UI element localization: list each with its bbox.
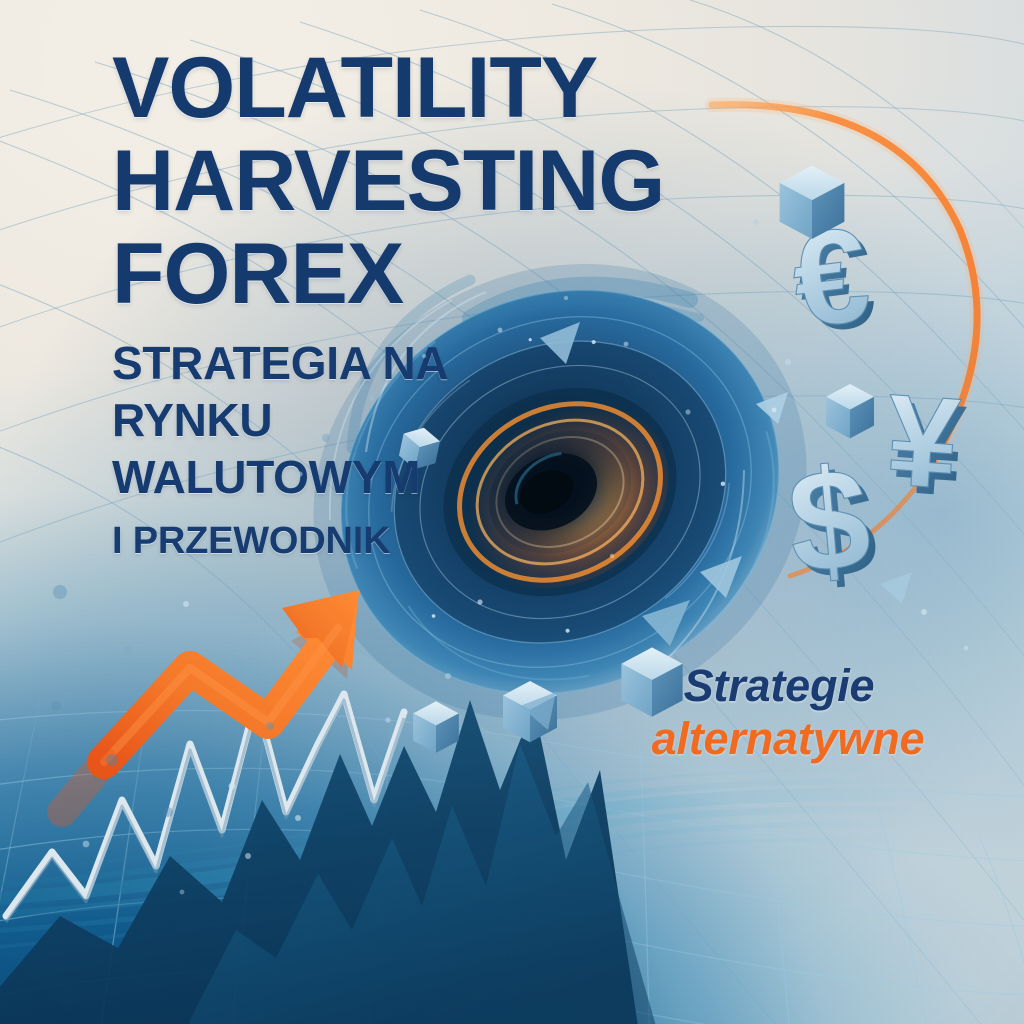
- svg-text:€: €: [785, 199, 877, 356]
- tagline-primary: Strategie: [614, 660, 944, 712]
- dollar-symbol: $ $: [782, 436, 882, 611]
- yen-symbol: ¥ ¥: [881, 366, 970, 524]
- svg-text:$: $: [789, 443, 883, 610]
- svg-text:¥: ¥: [887, 373, 969, 524]
- floating-cube-3: [413, 701, 459, 753]
- title-line-2: HARVESTING: [112, 135, 752, 228]
- white-volatility-line-shadow: [6, 700, 404, 922]
- page-title: VOLATILITY HARVESTING FOREX: [112, 42, 752, 321]
- page-subtitle: STRATEGIA NA RYNKU WALUTOWYM: [112, 335, 752, 506]
- tagline-secondary: alternatywne: [632, 712, 944, 766]
- white-volatility-line: [6, 694, 404, 916]
- guide-label: I PRZEWODNIK: [112, 518, 752, 564]
- subtitle-line-2: RYNKU: [112, 392, 752, 449]
- title-line-1: VOLATILITY: [112, 42, 752, 135]
- poster-canvas: € € ¥ ¥ $ $: [0, 0, 1024, 1024]
- headline-block: VOLATILITY HARVESTING FOREX STRATEGIA NA…: [112, 42, 752, 564]
- floating-cube-2: [826, 384, 874, 438]
- subtitle-line-3: WALUTOWYM: [112, 449, 752, 506]
- title-line-3: FOREX: [112, 228, 752, 321]
- svg-text:€: €: [790, 205, 882, 362]
- subtitle-line-1: STRATEGIA NA: [112, 335, 752, 392]
- euro-symbol: € €: [785, 199, 883, 363]
- orange-growth-arrow: [62, 590, 360, 812]
- svg-text:$: $: [782, 437, 876, 604]
- floating-cube-1: [780, 166, 845, 239]
- svg-text:¥: ¥: [882, 366, 964, 517]
- volatility-mountain-chart: [0, 700, 660, 1024]
- teal-wave-ribbon: [0, 769, 1024, 948]
- blue-depth-field: [0, 558, 1024, 1024]
- floating-cube-4: [503, 681, 557, 742]
- tagline-block: Strategie alternatywne: [614, 660, 944, 766]
